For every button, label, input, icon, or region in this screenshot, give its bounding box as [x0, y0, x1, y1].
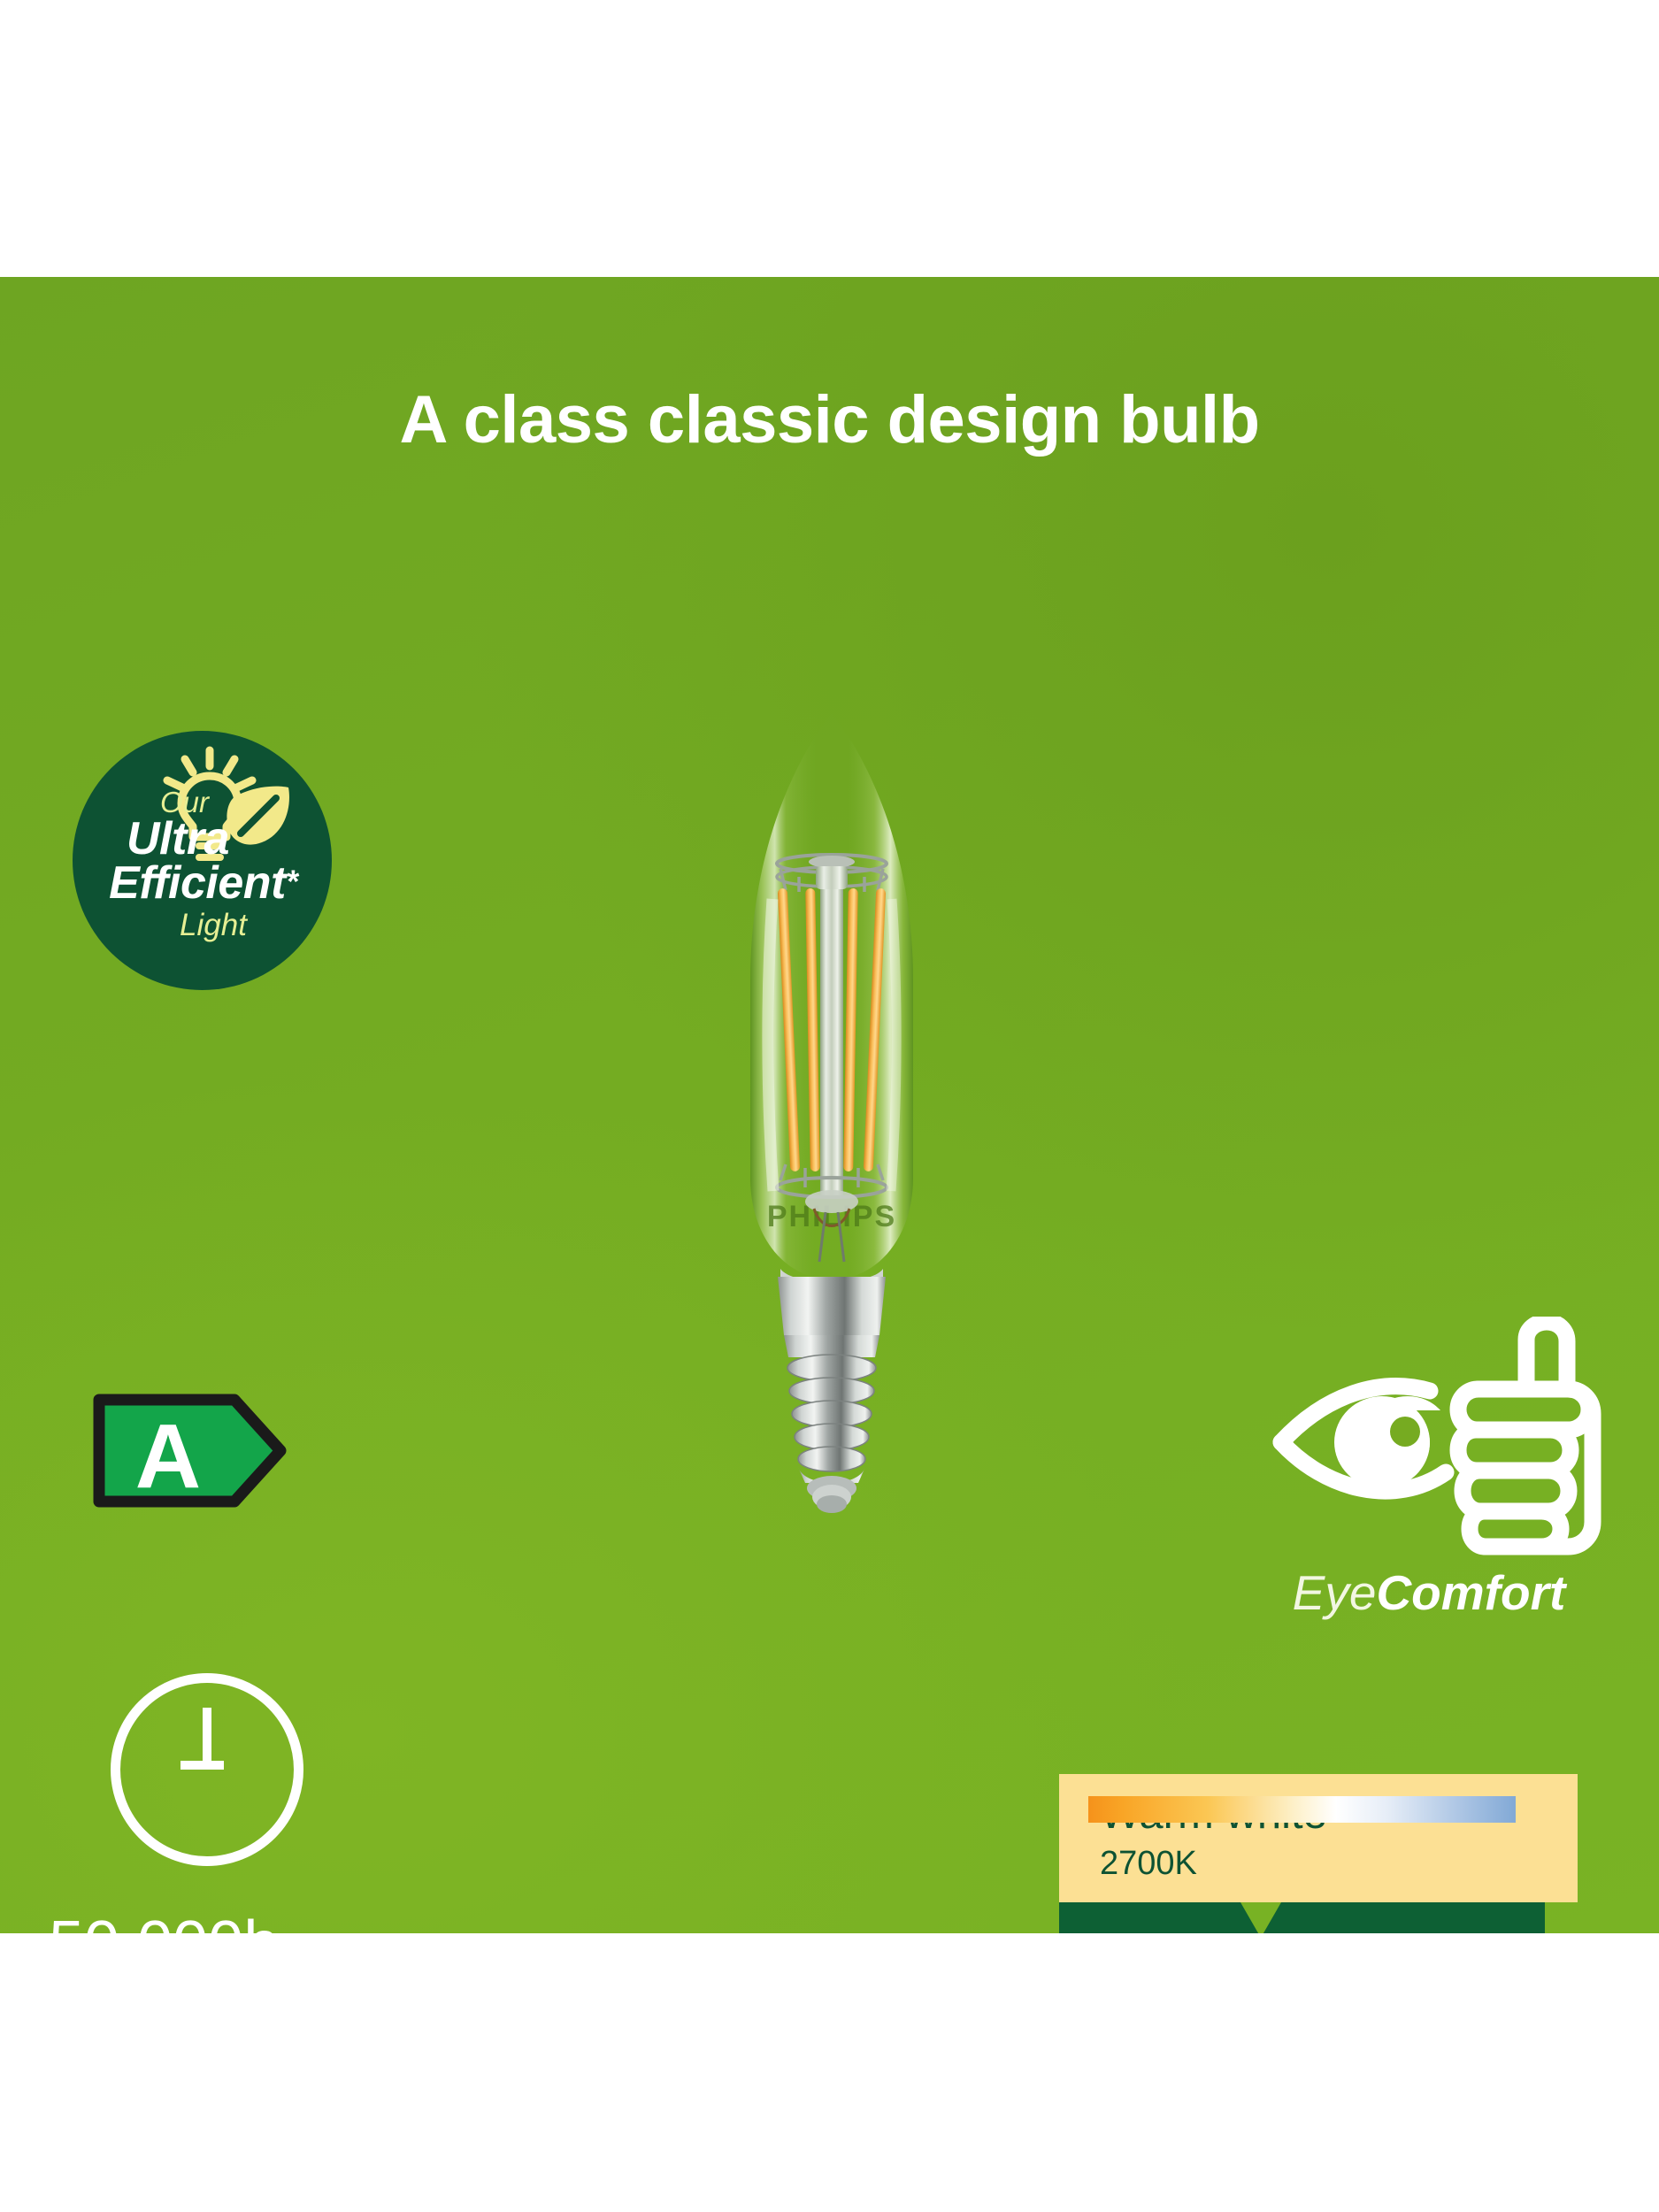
bulb-base-e14 — [778, 1277, 886, 1513]
hero-panel: A class classic design bulb Our Ultra — [0, 277, 1659, 1933]
bulb-stem — [820, 868, 843, 1195]
ultra-efficient-badge: Our Ultra Efficient* Light — [73, 731, 332, 990]
product-bulb-image: PHILIPS — [681, 695, 982, 1527]
eye-comfort-label-part1: Eye — [1293, 1565, 1377, 1620]
page-title: A class classic design bulb — [0, 385, 1659, 456]
color-temperature-panel: Warm white 2700K — [1059, 1774, 1578, 1902]
badge-line-ultra: Ultra — [73, 816, 283, 862]
clock-icon — [111, 1673, 303, 1866]
screenshot-canvas: A class classic design bulb Our Ultra — [0, 0, 1659, 2212]
lifetime-value: 50.000h — [49, 1912, 279, 1933]
eye-thumbsup-icon — [1256, 1317, 1610, 1564]
color-temperature-gradient-strip — [1088, 1796, 1516, 1823]
energy-class-letter: A — [93, 1410, 243, 1502]
color-temperature-block: Warm white 2700K — [1059, 1774, 1578, 1933]
energy-class-label: A — [93, 1390, 287, 1511]
clock-hour-hand — [203, 1708, 211, 1766]
clock-minute-hand — [180, 1761, 224, 1770]
badge-efficient-text: Efficient — [109, 857, 286, 909]
eye-comfort-label: EyeComfort — [1239, 1569, 1619, 1617]
color-temperature-kelvin: 2700K — [1100, 1847, 1197, 1880]
badge-line-light: Light — [108, 910, 319, 941]
badge-line-efficient: Efficient* — [85, 860, 322, 906]
eye-comfort-label-part2: Comfort — [1376, 1565, 1565, 1620]
badge-asterisk: * — [286, 864, 298, 900]
eye-comfort-feature: EyeComfort — [1239, 1317, 1619, 1653]
color-temperature-bar — [1059, 1902, 1545, 1933]
